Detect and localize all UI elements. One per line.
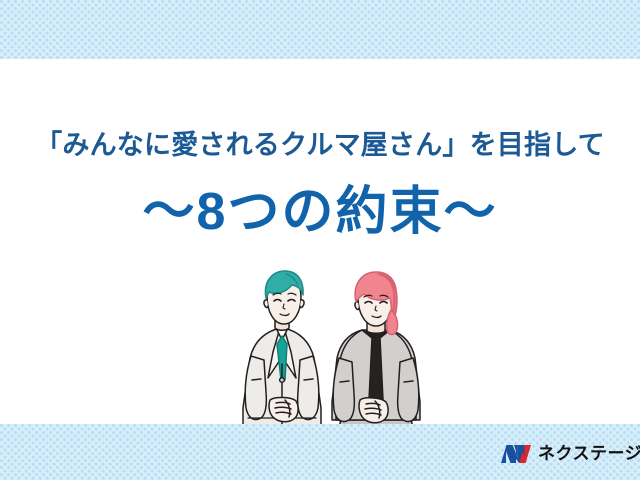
poster-canvas: 「みんなに愛されるクルマ屋さん」を目指して 〜8つの約束〜 bbox=[0, 0, 640, 480]
headline-line-2: 〜8つの約束〜 bbox=[0, 180, 640, 244]
nextage-n-mark-icon bbox=[500, 443, 532, 465]
nextage-logo: ネクステージ bbox=[500, 440, 640, 468]
two-staff-bowing-illustration bbox=[228, 268, 428, 443]
nextage-logo-text: ネクステージ bbox=[538, 443, 640, 465]
top-dot-band bbox=[0, 0, 640, 59]
headline-line-1: 「みんなに愛されるクルマ屋さん」を目指して bbox=[0, 127, 640, 163]
